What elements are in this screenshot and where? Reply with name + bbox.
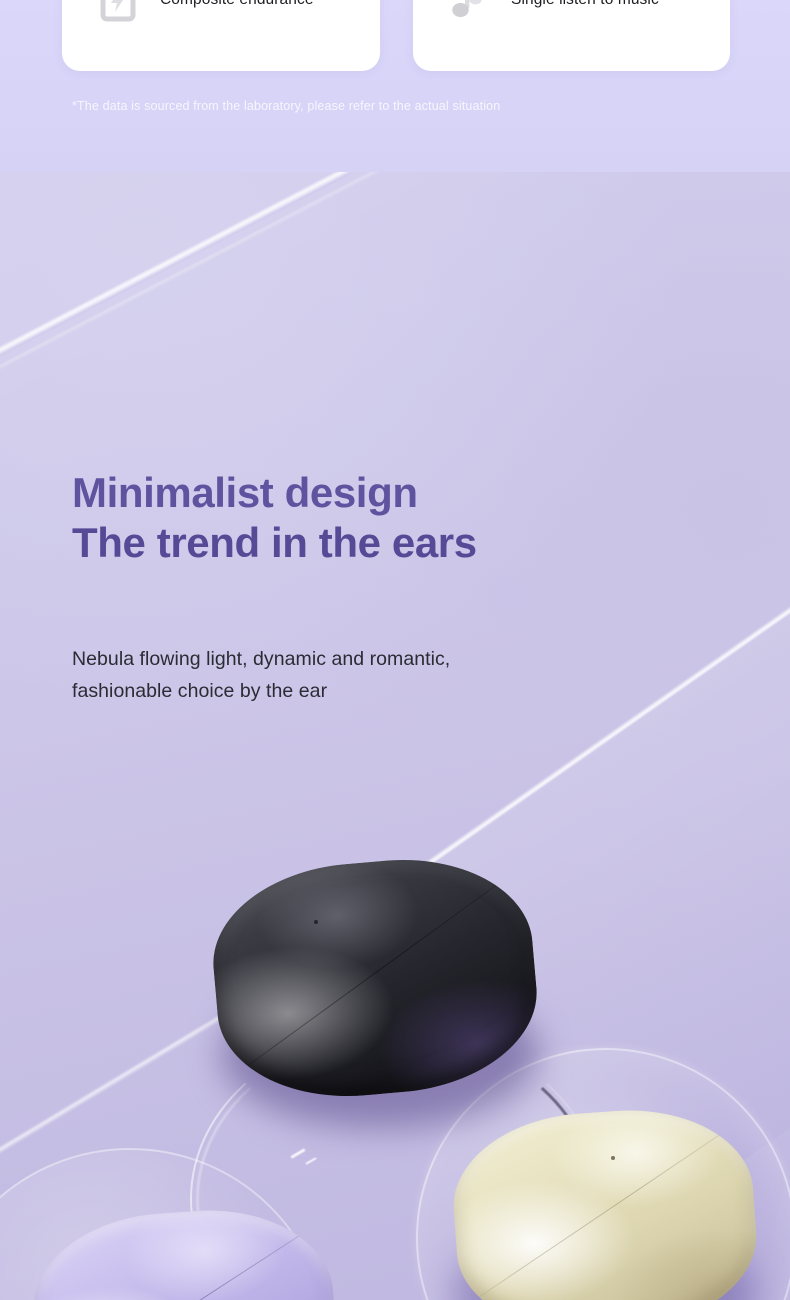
subtitle-line-2: fashionable choice by the ear — [72, 676, 712, 708]
case-seam-line — [33, 1212, 336, 1300]
black-earbud-case — [215, 862, 535, 1094]
spec-card-single-listen[interactable]: Single listen to music — [413, 0, 730, 71]
disclaimer-text: *The data is sourced from the laboratory… — [72, 99, 500, 113]
case-body — [28, 1202, 343, 1300]
spec-section: Composite endurance Single listen to mus… — [0, 0, 790, 172]
music-note-icon — [445, 0, 493, 24]
cream-earbud-case — [455, 1112, 755, 1300]
subtitle-line-1: Nebula flowing light, dynamic and romant… — [72, 644, 712, 676]
battery-bolt-icon — [94, 0, 142, 24]
spec-card-label: Composite endurance — [160, 0, 314, 7]
case-mic-hole — [611, 1156, 615, 1160]
glass-slab-upper — [0, 172, 790, 654]
spec-card-row: Composite endurance Single listen to mus… — [0, 0, 790, 72]
case-seam-line — [455, 1112, 754, 1300]
spec-card-label: Single listen to music — [511, 0, 659, 7]
headline-line-1: Minimalist design — [72, 468, 712, 518]
case-seam-line — [219, 861, 530, 1088]
hero-subtitle: Nebula flowing light, dynamic and romant… — [72, 644, 712, 707]
hero-product-section: Minimalist design The trend in the ears … — [0, 172, 790, 1300]
hero-headline: Minimalist design The trend in the ears — [72, 468, 712, 567]
purple-earbud-case — [35, 1212, 335, 1300]
case-body — [448, 1102, 762, 1300]
headline-line-2: The trend in the ears — [72, 518, 712, 568]
spec-card-composite-endurance[interactable]: Composite endurance — [62, 0, 380, 71]
